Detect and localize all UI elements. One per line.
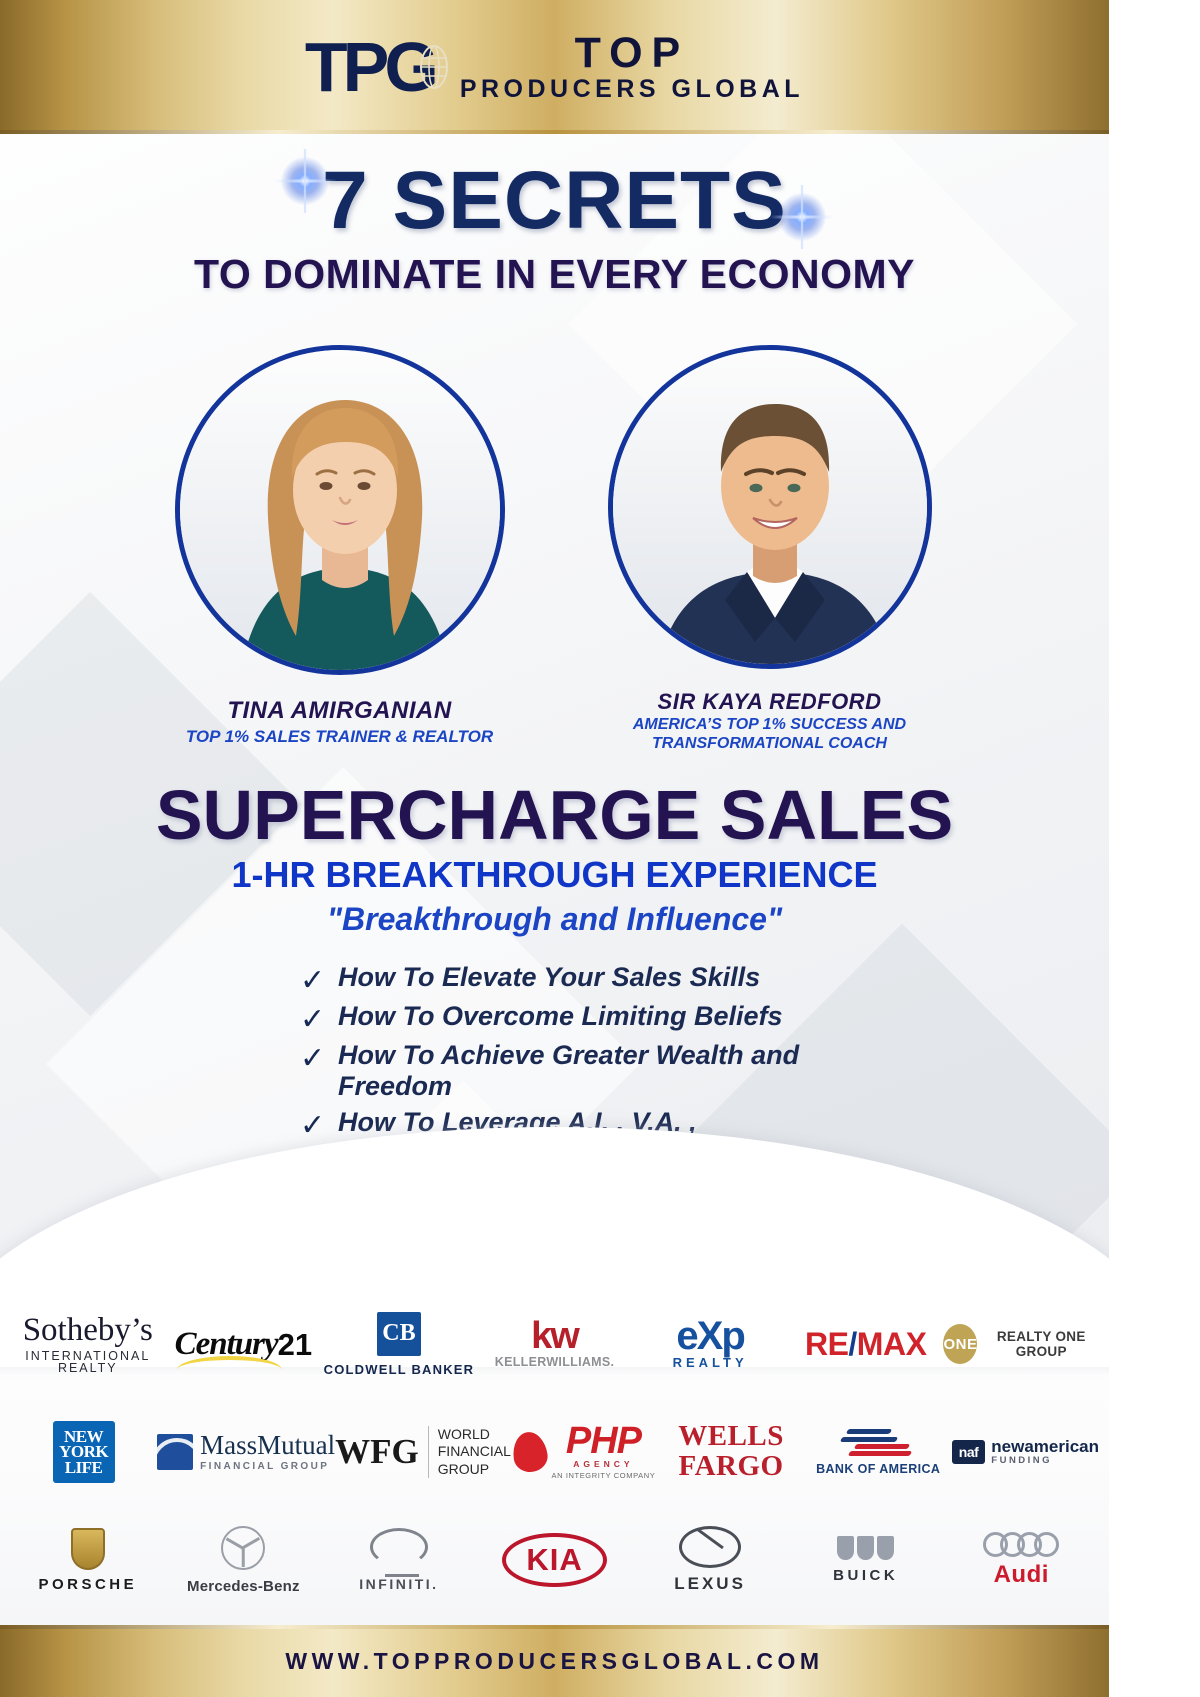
logo-php-line1: PHP [566, 1424, 641, 1458]
logo-row: Sotheby’s INTERNATIONAL REALTY Century 2… [10, 1290, 1099, 1398]
logo-php-line2: AGENCY [573, 1459, 633, 1469]
logo-new-york-life-line2: LIFE [65, 1460, 103, 1476]
logo-infiniti-label: INFINITI. [359, 1576, 438, 1592]
logo-row: PORSCHE Mercedes-Benz INFINITI. [10, 1506, 1099, 1614]
php-flame-icon [510, 1430, 549, 1474]
logo-realty-one-label: REALTY ONE GROUP [983, 1329, 1099, 1359]
avatar [175, 345, 505, 675]
check-icon: ✓ [300, 1109, 330, 1142]
audi-rings-icon [983, 1532, 1059, 1557]
logo-mercedes-benz: Mercedes-Benz [166, 1506, 322, 1614]
logo-bank-of-america-label: BANK OF AMERICA [816, 1462, 940, 1476]
logo-new-york-life-line1: NEW YORK [53, 1429, 115, 1460]
logo-coldwell-banker-mark: CB [377, 1312, 421, 1356]
logo-porsche-label: PORSCHE [38, 1576, 137, 1593]
logo-kia-label: KIA [502, 1533, 606, 1587]
logo-wfg-monogram: WFG [335, 1437, 419, 1467]
logo-world-financial-group: WFG WORLD FINANCIAL GROUP [335, 1398, 510, 1506]
logo-exp-realty: eXp REALTY [632, 1290, 788, 1398]
logo-remax-line2: MAX [857, 1326, 927, 1363]
logo-php-agency: PHP AGENCY AN INTEGRITY COMPANY [510, 1398, 657, 1506]
offer-subtitle: 1-HR BREAKTHROUGH EXPERIENCE [0, 855, 1109, 895]
logo-coldwell-banker-label: COLDWELL BANKER [324, 1362, 475, 1377]
website-url[interactable]: WWW.TOPPRODUCERSGLOBAL.COM [285, 1648, 823, 1675]
list-item: ✓ How To Elevate Your Sales Skills [300, 962, 860, 997]
logo-porsche: PORSCHE [10, 1506, 166, 1614]
logo-massmutual-line2: FINANCIAL GROUP [200, 1461, 329, 1472]
flyer-poster: TPG TOP PRODUCERS GLOBAL 7 SECRETS TO DO… [0, 0, 1109, 1697]
logo-sothebys-line1: Sotheby’s [23, 1314, 153, 1347]
mercedes-star-icon [221, 1526, 265, 1570]
speaker-name: TINA AMIRGANIAN [160, 697, 520, 725]
logo-keller-williams-label: KELLERWILLIAMS. [495, 1355, 615, 1369]
logo-remax-slash: / [848, 1326, 856, 1363]
logo-buick-label: BUICK [833, 1567, 898, 1584]
logo-naf-line2: newamerican [991, 1438, 1099, 1455]
logo-realty-one-badge: ONE [943, 1324, 977, 1364]
logo-buick: BUICK [788, 1506, 944, 1614]
list-item-label: How To Achieve Greater Wealth and Freedo… [338, 1040, 860, 1103]
logo-infiniti: INFINITI. [321, 1506, 477, 1614]
lexus-mark-icon [679, 1526, 741, 1568]
logo-kia: KIA [477, 1506, 633, 1614]
logo-lexus: LEXUS [632, 1506, 788, 1614]
porsche-crest-icon [71, 1528, 105, 1570]
brand-header: TPG TOP PRODUCERS GLOBAL [0, 0, 1109, 134]
brand-wordmark: TOP PRODUCERS GLOBAL [460, 31, 804, 104]
logo-mercedes-label: Mercedes-Benz [187, 1578, 300, 1595]
logo-massmutual-line1: MassMutual [200, 1432, 335, 1459]
list-item-label: How To Elevate Your Sales Skills [338, 962, 760, 993]
list-item: ✓ How To Overcome Limiting Beliefs [300, 1001, 860, 1036]
logo-new-american-funding: naf newamerican FUNDING [952, 1398, 1099, 1506]
logo-exp-realty-label: REALTY [673, 1355, 748, 1370]
offer-title: SUPERCHARGE SALES [0, 780, 1109, 851]
partner-logos-grid: Sotheby’s INTERNATIONAL REALTY Century 2… [0, 1283, 1109, 1625]
logo-wfg-label: WORLD FINANCIAL GROUP [428, 1426, 511, 1479]
offer-quote: "Breakthrough and Influence" [0, 901, 1109, 938]
bank-of-america-flag-icon [841, 1429, 915, 1455]
logo-century21: Century 21 [166, 1290, 322, 1398]
logo-bank-of-america: BANK OF AMERICA [805, 1398, 952, 1506]
avatar [608, 345, 932, 669]
logo-century21-line2: 21 [278, 1329, 312, 1360]
logo-coldwell-banker: CB COLDWELL BANKER [321, 1290, 477, 1398]
speaker-card: TINA AMIRGANIAN TOP 1% SALES TRAINER & R… [160, 345, 520, 754]
speaker-name: SIR KAYA REDFORD [590, 689, 950, 714]
footer-gold-band: WWW.TOPPRODUCERSGLOBAL.COM [0, 1625, 1109, 1697]
logo-sothebys: Sotheby’s INTERNATIONAL REALTY [10, 1290, 166, 1398]
logo-keller-williams: kw KELLERWILLIAMS. [477, 1290, 633, 1398]
page-subtitle: TO DOMINATE IN EVERY ECONOMY [0, 252, 1109, 297]
speaker-card: SIR KAYA REDFORD AMERICA’S TOP 1% SUCCES… [590, 345, 950, 754]
check-icon: ✓ [300, 1042, 330, 1075]
logo-wells-fargo-line1: WELLS [678, 1422, 784, 1452]
offer-block: SUPERCHARGE SALES 1-HR BREAKTHROUGH EXPE… [0, 780, 1109, 938]
logo-row: NEW YORK LIFE MassMutual FINANCIAL GROUP… [10, 1398, 1099, 1506]
logo-naf-mark: naf [952, 1440, 986, 1464]
logo-php-line3: AN INTEGRITY COMPANY [552, 1471, 656, 1480]
speakers-row: TINA AMIRGANIAN TOP 1% SALES TRAINER & R… [0, 345, 1109, 754]
speaker-role: AMERICA’S TOP 1% SUCCESS AND TRANSFORMAT… [590, 716, 950, 754]
logo-naf-line3: FUNDING [991, 1455, 1052, 1466]
infiniti-mark-icon [370, 1528, 428, 1566]
logo-lexus-label: LEXUS [674, 1574, 746, 1594]
headline-block: 7 SECRETS TO DOMINATE IN EVERY ECONOMY [0, 160, 1109, 297]
logo-audi: Audi [943, 1506, 1099, 1614]
logo-wells-fargo: WELLS FARGO [658, 1398, 805, 1506]
list-item: ✓ How To Achieve Greater Wealth and Free… [300, 1040, 860, 1103]
massmutual-mark-icon [157, 1434, 193, 1470]
logo-realty-one-group: ONE REALTY ONE GROUP [943, 1290, 1099, 1398]
check-icon: ✓ [300, 964, 330, 997]
tpg-logo-icon: TPG [305, 32, 434, 102]
list-item-label: How To Overcome Limiting Beliefs [338, 1001, 783, 1032]
logo-massmutual: MassMutual FINANCIAL GROUP [157, 1398, 335, 1506]
buick-shields-icon [837, 1536, 894, 1560]
logo-remax: RE / MAX [788, 1290, 944, 1398]
logo-audi-label: Audi [994, 1561, 1049, 1589]
brand-name-line2: PRODUCERS GLOBAL [460, 76, 804, 104]
logo-keller-williams-mark: kw [531, 1319, 578, 1353]
logo-remax-line1: RE [805, 1326, 848, 1363]
logo-exp-realty-mark: eXp [676, 1318, 743, 1355]
speaker-role: TOP 1% SALES TRAINER & REALTOR [160, 727, 520, 747]
brand-name-line1: TOP [575, 31, 690, 76]
page-title: 7 SECRETS [322, 160, 787, 242]
check-icon: ✓ [300, 1003, 330, 1036]
logo-new-york-life: NEW YORK LIFE [10, 1398, 157, 1506]
logo-wells-fargo-line2: FARGO [679, 1452, 784, 1482]
logo-sothebys-line2: INTERNATIONAL REALTY [10, 1350, 166, 1375]
